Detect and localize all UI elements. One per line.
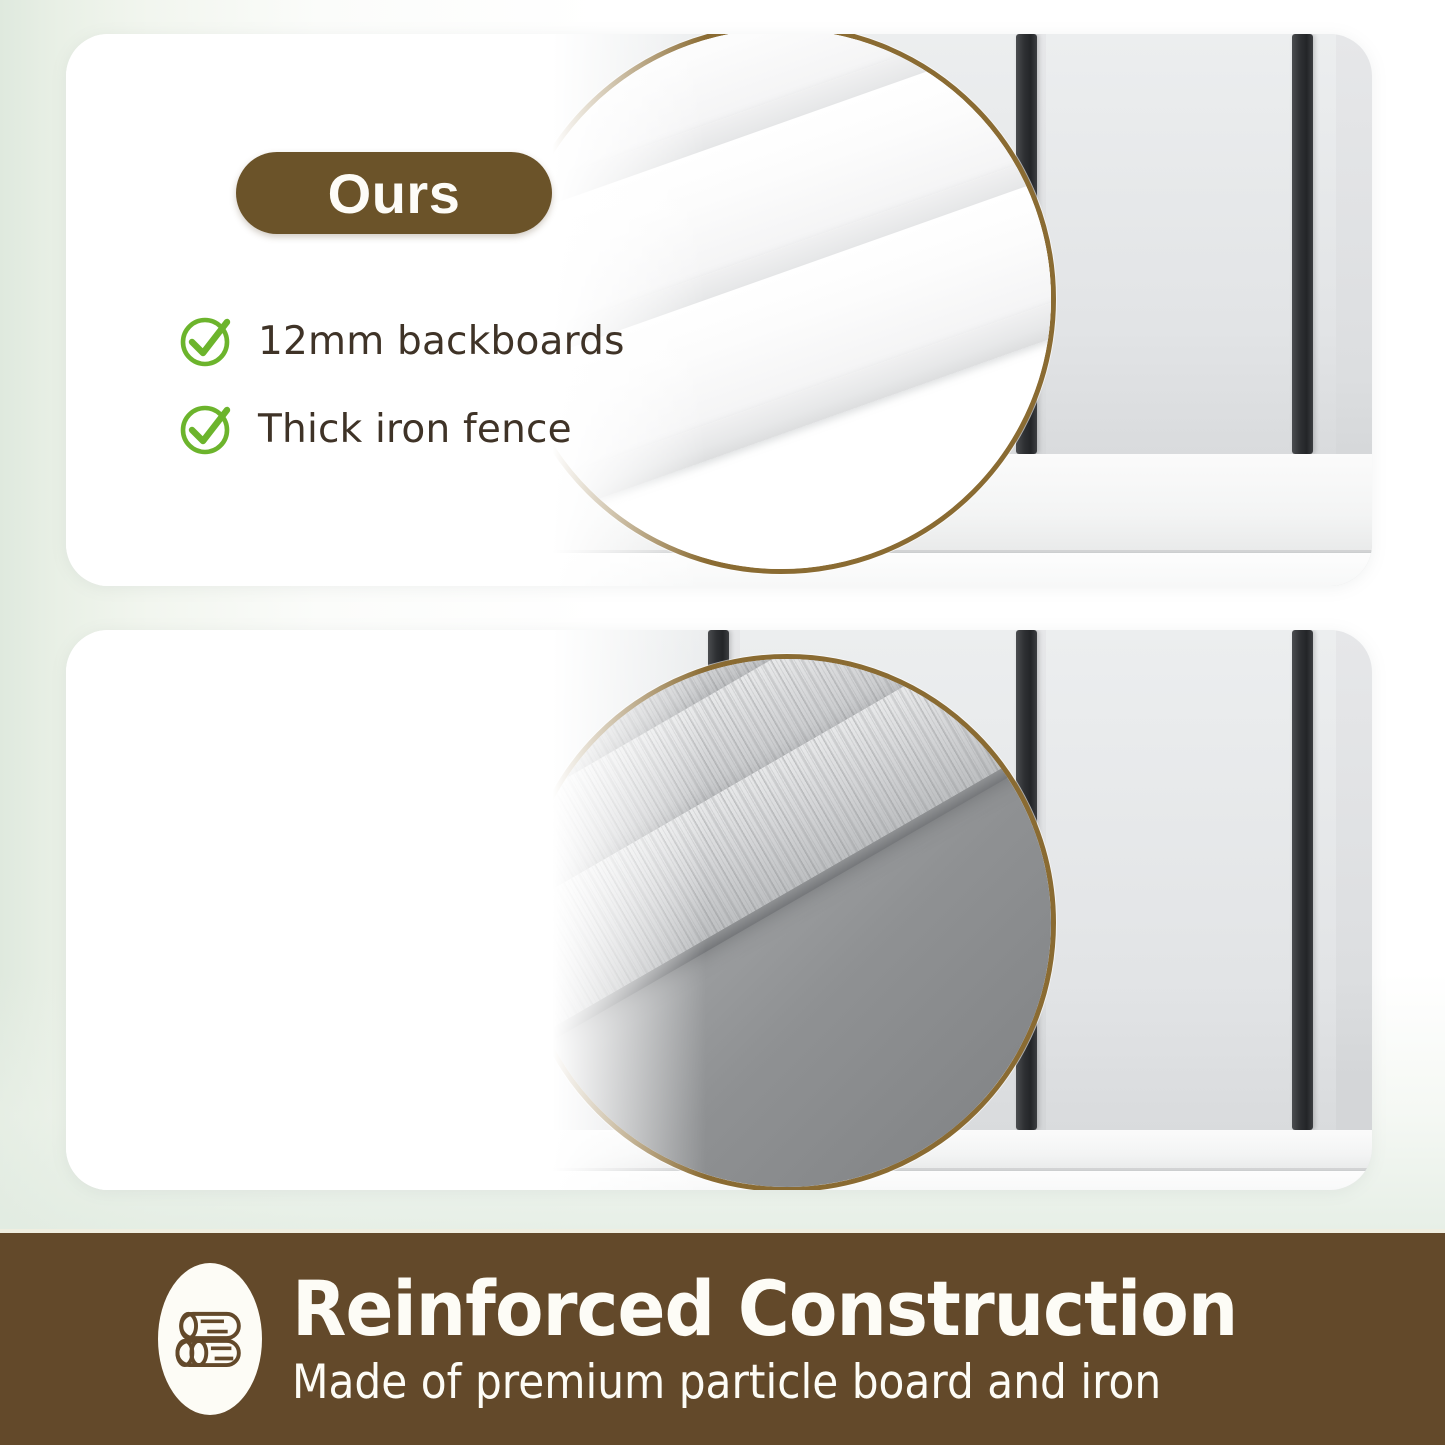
cabinet-bar bbox=[1292, 630, 1313, 1130]
feature-item: 12mm backboards bbox=[178, 312, 625, 370]
infographic-canvas: Ours 12mm backboards bbox=[0, 0, 1445, 1445]
ours-badge-label: Ours bbox=[328, 161, 461, 226]
feature-label: Thick iron fence bbox=[258, 403, 572, 456]
comparison-card-others: Others Inferior thin backboards bbox=[66, 630, 1372, 1190]
banner-title: Reinforced Construction bbox=[292, 1267, 1237, 1351]
others-magnified-detail bbox=[518, 654, 1056, 1190]
ours-badge: Ours bbox=[236, 152, 552, 234]
stacked-logs-icon bbox=[158, 1263, 262, 1415]
feature-item: Thick iron fence bbox=[178, 400, 625, 458]
cabinet-bar bbox=[1292, 34, 1313, 454]
ours-feature-list: 12mm backboards Thick iron fence bbox=[178, 312, 625, 488]
reinforced-construction-banner: Reinforced Construction Made of premium … bbox=[0, 1229, 1445, 1445]
feature-label: 12mm backboards bbox=[258, 315, 625, 368]
banner-text-block: Reinforced Construction Made of premium … bbox=[292, 1267, 1308, 1411]
comparison-card-ours: Ours 12mm backboards bbox=[66, 34, 1372, 586]
ours-magnified-detail bbox=[506, 34, 1056, 574]
green-check-icon bbox=[178, 400, 236, 458]
banner-subtitle: Made of premium particle board and iron bbox=[292, 1355, 1207, 1411]
green-check-icon bbox=[178, 312, 236, 370]
